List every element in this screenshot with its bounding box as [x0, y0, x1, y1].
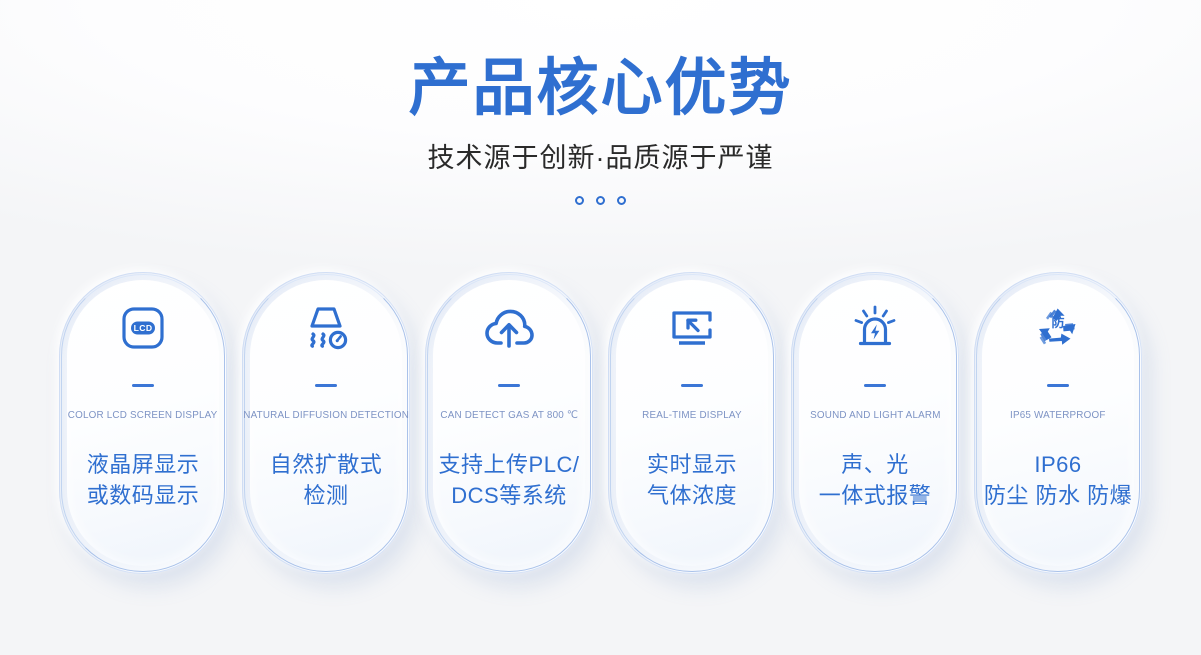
cloud-upload-icon: [425, 272, 593, 384]
card-cn-line-2: DCS等系统: [439, 480, 580, 511]
dot-icon: [617, 196, 626, 205]
card-cn-label: 支持上传PLC/ DCS等系统: [439, 449, 580, 511]
card-cn-line-1: 支持上传PLC/: [439, 449, 580, 480]
card-en-label: NATURAL DIFFUSION DETECTION: [243, 409, 409, 421]
monitor-display-icon: [608, 272, 776, 384]
card-divider: [315, 384, 337, 387]
card-divider: [498, 384, 520, 387]
card-cn-line-1: IP66: [984, 449, 1132, 480]
card-en-label: COLOR LCD SCREEN DISPLAY: [68, 409, 218, 421]
product-advantages-page: 产品核心优势 技术源于创新·品质源于严谨 LCD COLOR LCD SCREE…: [0, 0, 1201, 655]
card-cn-label: 液晶屏显示 或数码显示: [87, 449, 200, 511]
card-en-label: REAL-TIME DISPLAY: [642, 409, 742, 421]
svg-text:LCD: LCD: [134, 323, 153, 333]
card-cn-line-2: 气体浓度: [647, 480, 737, 511]
card-divider: [864, 384, 886, 387]
card-cn-label: 声、光 一体式报警: [819, 449, 932, 511]
protection-icon-char: 防: [1051, 315, 1064, 330]
advantage-card-sound-light-alarm[interactable]: SOUND AND LIGHT ALARM 声、光 一体式报警: [791, 272, 959, 574]
page-title: 产品核心优势: [0, 0, 1201, 120]
card-cn-label: 自然扩散式 检测: [270, 449, 383, 511]
card-divider: [681, 384, 703, 387]
card-en-label: IP65 WATERPROOF: [1010, 409, 1106, 421]
natural-diffusion-icon: [242, 272, 410, 384]
card-cn-line-2: 一体式报警: [819, 480, 932, 511]
protection-recycle-icon: 防: [974, 272, 1142, 384]
card-cn-line-1: 自然扩散式: [270, 449, 383, 480]
decorative-dots: [0, 196, 1201, 205]
advantage-card-ip66-protection[interactable]: 防 IP65 WATERPROOF IP66 防尘 防水 防爆: [974, 272, 1142, 574]
card-en-label: SOUND AND LIGHT ALARM: [810, 409, 940, 421]
advantage-card-list: LCD COLOR LCD SCREEN DISPLAY 液晶屏显示 或数码显示: [0, 272, 1201, 574]
advantage-card-cloud-upload[interactable]: CAN DETECT GAS AT 800 ℃ 支持上传PLC/ DCS等系统: [425, 272, 593, 574]
card-cn-line-1: 液晶屏显示: [87, 449, 200, 480]
advantage-card-lcd-display[interactable]: LCD COLOR LCD SCREEN DISPLAY 液晶屏显示 或数码显示: [59, 272, 227, 574]
advantage-card-realtime-display[interactable]: REAL-TIME DISPLAY 实时显示 气体浓度: [608, 272, 776, 574]
card-cn-line-1: 实时显示: [647, 449, 737, 480]
card-cn-line-1: 声、光: [819, 449, 932, 480]
card-divider: [132, 384, 154, 387]
card-divider: [1047, 384, 1069, 387]
dot-icon: [596, 196, 605, 205]
card-cn-label: IP66 防尘 防水 防爆: [984, 449, 1132, 511]
card-en-label: CAN DETECT GAS AT 800 ℃: [440, 409, 578, 421]
card-cn-line-2: 检测: [270, 480, 383, 511]
alarm-siren-icon: [791, 272, 959, 384]
page-header: 产品核心优势 技术源于创新·品质源于严谨: [0, 0, 1201, 205]
card-cn-line-2: 或数码显示: [87, 480, 200, 511]
lcd-screen-icon: LCD: [59, 272, 227, 384]
dot-icon: [575, 196, 584, 205]
advantage-card-natural-diffusion[interactable]: NATURAL DIFFUSION DETECTION 自然扩散式 检测: [242, 272, 410, 574]
card-cn-label: 实时显示 气体浓度: [647, 449, 737, 511]
card-cn-line-2: 防尘 防水 防爆: [984, 480, 1132, 511]
page-subtitle: 技术源于创新·品质源于严谨: [0, 120, 1201, 174]
